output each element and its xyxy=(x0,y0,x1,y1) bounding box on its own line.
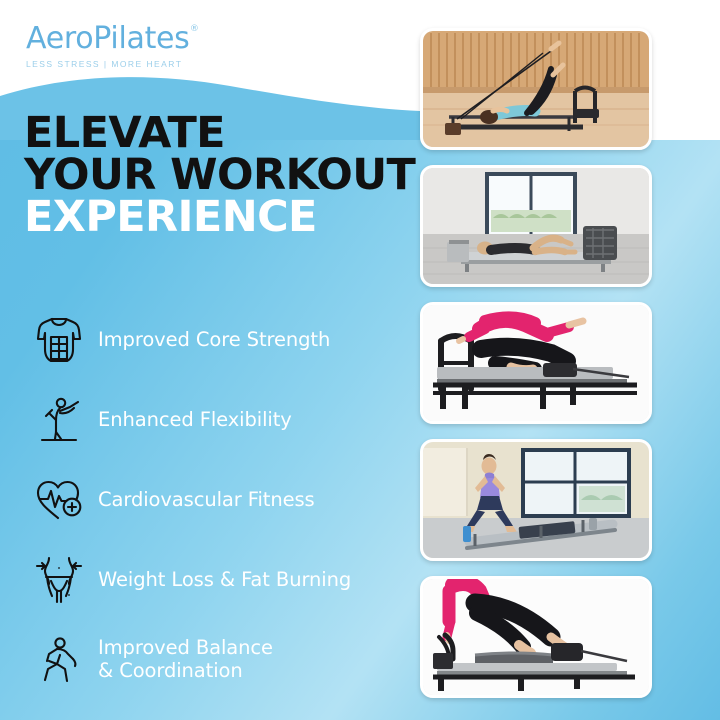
heart-pulse-plus-icon xyxy=(30,477,88,523)
registered-mark-icon: ® xyxy=(190,25,199,34)
brand-name: AeroPilates ® xyxy=(26,24,190,54)
list-item-label: Improved Balance & Coordination xyxy=(98,637,273,682)
running-figure-icon xyxy=(30,635,88,685)
list-item: Cardiovascular Fitness xyxy=(30,460,420,540)
photo-column xyxy=(420,28,652,713)
photo-reformer-plank-pink xyxy=(420,576,652,698)
photo-reformer-bright-room xyxy=(420,165,652,287)
photo-image xyxy=(423,579,649,695)
photo-reformer-wood-studio xyxy=(420,28,652,150)
waist-slimming-icon xyxy=(30,554,88,606)
brand-tagline: LESS STRESS | MORE HEART xyxy=(26,59,256,69)
brand-logo: AeroPilates ® LESS STRESS | MORE HEART xyxy=(26,24,256,69)
page-title: ELEVATE YOUR WORKOUT EXPERIENCE xyxy=(24,112,424,238)
brand-name-text: AeroPilates xyxy=(26,21,190,56)
photo-image xyxy=(423,31,649,147)
photo-standing-purple-tank xyxy=(420,439,652,561)
list-item-label: Enhanced Flexibility xyxy=(98,409,292,432)
list-item: Improved Balance & Coordination xyxy=(30,620,420,700)
list-item-label-line-2: & Coordination xyxy=(98,659,243,682)
headline-line-3: EXPERIENCE xyxy=(24,196,424,238)
list-item: Improved Core Strength xyxy=(30,300,420,380)
list-item-label: Weight Loss & Fat Burning xyxy=(98,569,351,592)
torso-abs-icon xyxy=(30,315,88,365)
photo-reformer-pink-top xyxy=(420,302,652,424)
list-item-label-line-1: Improved Balance xyxy=(98,636,273,659)
list-item-label: Cardiovascular Fitness xyxy=(98,489,315,512)
headline-line-1: ELEVATE xyxy=(24,112,424,154)
list-item: Weight Loss & Fat Burning xyxy=(30,540,420,620)
photo-image xyxy=(423,442,649,558)
list-item-label: Improved Core Strength xyxy=(98,329,330,352)
benefits-list: Improved Core Strength Enhanced Flexibil… xyxy=(30,300,420,700)
photo-image xyxy=(423,305,649,421)
list-item: Enhanced Flexibility xyxy=(30,380,420,460)
headline-line-2: YOUR WORKOUT xyxy=(24,154,424,196)
promo-poster: AeroPilates ® LESS STRESS | MORE HEART E… xyxy=(0,0,720,720)
photo-image xyxy=(423,168,649,284)
stretching-figure-icon xyxy=(30,394,88,446)
